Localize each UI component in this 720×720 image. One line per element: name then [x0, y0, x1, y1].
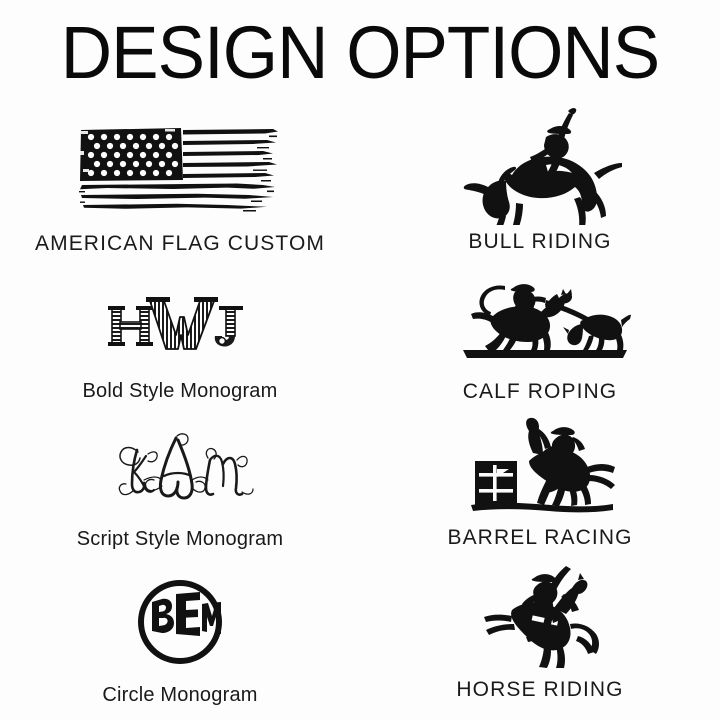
design-options-page: DESIGN OPTIONS — [0, 0, 720, 720]
option-label: CALF ROPING — [463, 380, 617, 404]
bull-riding-icon — [360, 104, 720, 224]
option-card-calf-roping[interactable]: CALF ROPING — [360, 256, 720, 408]
circle-monogram-icon — [0, 558, 360, 672]
option-label: BULL RIDING — [468, 230, 611, 254]
option-label: BARREL RACING — [447, 526, 632, 550]
bronc-riding-icon — [360, 558, 720, 670]
option-card-circle-monogram[interactable]: Circle Monogram — [0, 558, 360, 720]
barrel-racing-icon — [360, 408, 720, 516]
option-card-script-style-monogram[interactable]: Script Style Monogram — [0, 408, 360, 558]
option-label: Script Style Monogram — [77, 528, 284, 551]
option-card-bull-riding[interactable]: BULL RIDING — [360, 104, 720, 256]
american-flag-icon — [0, 104, 360, 222]
option-card-barrel-racing[interactable]: BARREL RACING — [360, 408, 720, 558]
option-label: Circle Monogram — [102, 684, 257, 707]
option-card-american-flag-custom[interactable]: AMERICAN FLAG CUSTOM — [0, 104, 360, 256]
page-title: DESIGN OPTIONS — [14, 14, 705, 92]
option-card-horse-riding[interactable]: HORSE RIDING — [360, 558, 720, 720]
option-label: Bold Style Monogram — [82, 380, 277, 403]
option-label: AMERICAN FLAG CUSTOM — [35, 232, 325, 256]
script-monogram-icon — [0, 408, 360, 514]
options-grid: AMERICAN FLAG CUSTOM — [0, 104, 720, 720]
calf-roping-icon — [360, 256, 720, 366]
bold-monogram-icon — [0, 256, 360, 368]
option-card-bold-style-monogram[interactable]: Bold Style Monogram — [0, 256, 360, 408]
option-label: HORSE RIDING — [456, 678, 623, 702]
